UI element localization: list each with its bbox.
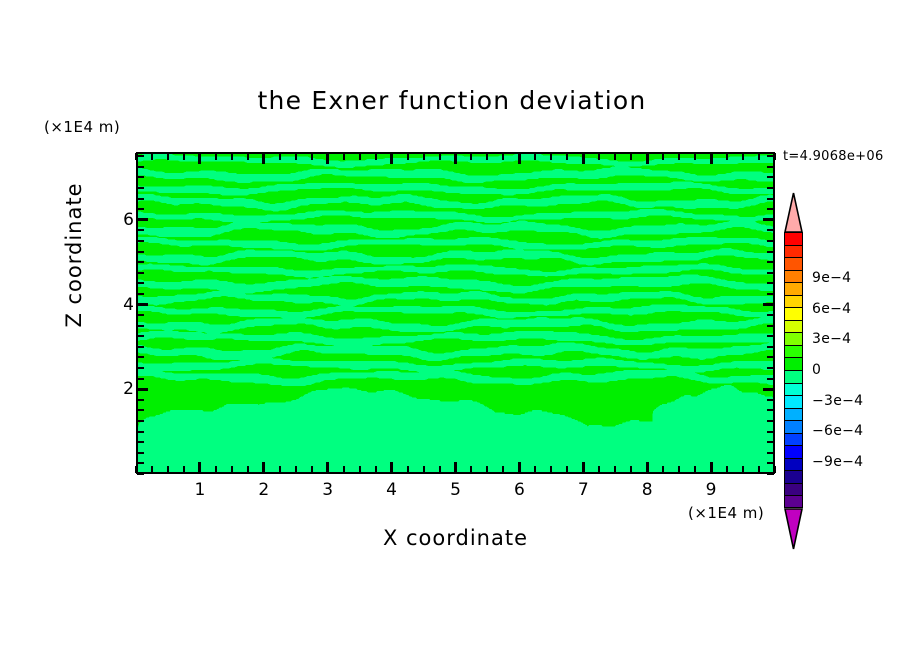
x-axis-tick	[454, 462, 457, 473]
x-axis-tick	[630, 466, 632, 473]
y-axis-tick-label: 2	[112, 379, 134, 399]
x-axis-tick	[167, 466, 169, 473]
y-axis-tick	[137, 399, 144, 401]
colorbar-tick-label: 9e−4	[812, 270, 851, 286]
x-axis-tick	[135, 466, 137, 473]
contour-field	[138, 154, 773, 472]
y-axis-tick	[137, 335, 144, 337]
x-axis-tick-top	[167, 153, 169, 160]
colorbar-band	[784, 395, 803, 408]
colorbar-band	[784, 370, 803, 383]
colorbar-tick-label: 0	[812, 362, 821, 378]
x-axis-tick	[774, 466, 776, 473]
x-axis-tick-top	[758, 153, 760, 160]
x-axis-tick-top	[566, 153, 568, 160]
y-axis-tick-right	[767, 293, 774, 295]
y-axis-tick	[137, 272, 144, 274]
y-axis-tick-right	[767, 462, 774, 464]
y-axis-tick	[137, 166, 144, 168]
x-axis-tick-top	[550, 153, 552, 160]
x-axis-tick-label: 5	[450, 480, 461, 500]
x-axis-tick	[742, 466, 744, 473]
y-axis-tick-right	[767, 240, 774, 242]
x-axis-tick-top	[343, 153, 345, 160]
x-axis-tick	[311, 466, 313, 473]
x-axis-tick	[758, 466, 760, 473]
y-axis-tick	[137, 388, 148, 391]
x-axis-tick	[231, 466, 233, 473]
x-axis-tick	[375, 466, 377, 473]
colorbar	[784, 232, 803, 508]
x-axis-unit-label: (×1E4 m)	[688, 504, 764, 522]
x-axis-tick-top	[454, 153, 457, 164]
y-axis-tick-right	[767, 272, 774, 274]
x-axis-tick-top	[326, 153, 329, 164]
x-axis-tick-top	[407, 153, 409, 160]
y-axis-tick-right	[767, 378, 774, 380]
y-axis-tick-right	[767, 155, 774, 157]
x-axis-tick	[550, 466, 552, 473]
x-axis-tick-label: 6	[514, 480, 525, 500]
x-axis-tick-top	[231, 153, 233, 160]
x-axis-tick-top	[247, 153, 249, 160]
y-axis-tick	[137, 303, 148, 306]
y-axis-tick	[137, 218, 148, 221]
x-axis-tick	[470, 466, 472, 473]
y-axis-tick-right	[767, 420, 774, 422]
y-axis-tick	[137, 240, 144, 242]
x-axis-tick-top	[646, 153, 649, 164]
y-axis-tick	[137, 261, 144, 263]
colorbar-band	[784, 295, 803, 308]
x-axis-tick	[326, 462, 329, 473]
y-axis-tick-right	[767, 452, 774, 454]
x-axis-tick	[343, 466, 345, 473]
y-axis-tick-right	[767, 229, 774, 231]
y-axis-tick-right	[767, 335, 774, 337]
colorbar-band	[784, 483, 803, 496]
colorbar-band	[784, 245, 803, 258]
y-axis-tick	[137, 367, 144, 369]
y-axis-title: Z coordinate	[62, 145, 86, 365]
x-axis-tick-top	[598, 153, 600, 160]
x-axis-title: X coordinate	[136, 526, 775, 550]
timestamp-annotation: t=4.9068e+06	[783, 149, 884, 164]
y-axis-tick-right	[767, 367, 774, 369]
y-axis-tick-label: 4	[112, 295, 134, 315]
x-axis-tick	[710, 462, 713, 473]
x-axis-tick-label: 4	[386, 480, 397, 500]
y-axis-tick-right	[767, 409, 774, 411]
y-axis-tick-right	[767, 399, 774, 401]
x-axis-tick-label: 3	[322, 480, 333, 500]
x-axis-tick-top	[198, 153, 201, 164]
x-axis-tick	[678, 466, 680, 473]
y-axis-tick	[137, 187, 144, 189]
x-axis-tick-top	[390, 153, 393, 164]
y-axis-tick	[137, 462, 144, 464]
y-axis-tick-right	[763, 388, 774, 391]
x-axis-tick-top	[262, 153, 265, 164]
colorbar-band	[784, 445, 803, 458]
x-axis-tick	[359, 466, 361, 473]
x-axis-tick	[598, 466, 600, 473]
x-axis-tick-top	[742, 153, 744, 160]
colorbar-tick-label: 6e−4	[812, 301, 851, 317]
colorbar-band	[784, 357, 803, 370]
x-axis-tick-label: 8	[642, 480, 653, 500]
y-axis-tick	[137, 198, 144, 200]
x-axis-tick	[439, 466, 441, 473]
colorbar-band	[784, 408, 803, 421]
y-axis-tick-right	[767, 208, 774, 210]
colorbar-tick-label: −6e−4	[812, 423, 863, 439]
y-axis-tick-label: 6	[112, 210, 134, 230]
y-axis-tick-right	[767, 431, 774, 433]
x-axis-tick	[247, 466, 249, 473]
y-axis-tick-right	[767, 198, 774, 200]
colorbar-band	[784, 332, 803, 345]
y-axis-tick-right	[767, 314, 774, 316]
y-axis-unit-label: (×1E4 m)	[44, 118, 120, 136]
x-axis-tick-top	[183, 153, 185, 160]
x-axis-tick-top	[710, 153, 713, 164]
x-axis-tick-top	[518, 153, 521, 164]
y-axis-tick	[137, 251, 144, 253]
y-axis-tick	[137, 452, 144, 454]
y-axis-tick-right	[767, 166, 774, 168]
x-axis-tick-top	[215, 153, 217, 160]
x-axis-tick-top	[694, 153, 696, 160]
x-axis-tick	[502, 466, 504, 473]
colorbar-band	[784, 420, 803, 433]
y-axis-tick-right	[767, 346, 774, 348]
x-axis-tick	[215, 466, 217, 473]
chart-title: the Exner function deviation	[0, 86, 904, 115]
x-axis-tick	[279, 466, 281, 473]
x-axis-tick-top	[662, 153, 664, 160]
x-axis-tick-top	[423, 153, 425, 160]
x-axis-tick	[407, 466, 409, 473]
y-axis-tick-right	[767, 251, 774, 253]
colorbar-band	[784, 270, 803, 283]
y-axis-tick	[137, 176, 144, 178]
y-axis-tick-right	[767, 441, 774, 443]
y-axis-tick	[137, 314, 144, 316]
colorbar-band	[784, 307, 803, 320]
x-axis-tick-top	[295, 153, 297, 160]
x-axis-tick	[183, 466, 185, 473]
colorbar-band	[784, 458, 803, 471]
x-axis-tick-top	[502, 153, 504, 160]
x-axis-tick-top	[614, 153, 616, 160]
x-axis-tick-top	[470, 153, 472, 160]
colorbar-tick-label: −3e−4	[812, 393, 863, 409]
x-axis-tick	[726, 466, 728, 473]
x-axis-tick	[198, 462, 201, 473]
x-axis-tick	[423, 466, 425, 473]
colorbar-tick-label: −9e−4	[812, 454, 863, 470]
y-axis-tick-right	[767, 176, 774, 178]
y-axis-tick	[137, 420, 144, 422]
x-axis-tick	[582, 462, 585, 473]
x-axis-tick	[566, 466, 568, 473]
y-axis-tick	[137, 378, 144, 380]
x-axis-tick-label: 2	[258, 480, 269, 500]
x-axis-tick-top	[678, 153, 680, 160]
colorbar-band	[784, 383, 803, 396]
x-axis-tick	[662, 466, 664, 473]
y-axis-tick	[137, 229, 144, 231]
x-axis-tick-label: 1	[194, 480, 205, 500]
x-axis-tick	[534, 466, 536, 473]
colorbar-band	[784, 257, 803, 270]
x-axis-tick-top	[311, 153, 313, 160]
x-axis-tick	[694, 466, 696, 473]
x-axis-tick	[151, 466, 153, 473]
colorbar-band	[784, 433, 803, 446]
y-axis-tick	[137, 473, 144, 475]
y-axis-tick-right	[767, 325, 774, 327]
x-axis-tick	[486, 466, 488, 473]
y-axis-tick	[137, 431, 144, 433]
y-axis-tick	[137, 441, 144, 443]
y-axis-tick-right	[767, 187, 774, 189]
colorbar-band	[784, 232, 803, 245]
figure-canvas: the Exner function deviation (×1E4 m) (×…	[0, 0, 904, 654]
x-axis-tick-top	[774, 153, 776, 160]
y-axis-tick-right	[763, 303, 774, 306]
y-axis-tick	[137, 325, 144, 327]
x-axis-tick-top	[486, 153, 488, 160]
y-axis-tick-right	[767, 356, 774, 358]
y-axis-tick	[137, 293, 144, 295]
x-axis-tick-top	[375, 153, 377, 160]
y-axis-tick	[137, 282, 144, 284]
y-axis-tick-right	[767, 473, 774, 475]
colorbar-band	[784, 470, 803, 483]
y-axis-tick-right	[767, 282, 774, 284]
colorbar-band	[784, 495, 803, 508]
x-axis-tick-top	[726, 153, 728, 160]
colorbar-band	[784, 320, 803, 333]
colorbar-band	[784, 282, 803, 295]
x-axis-tick-top	[439, 153, 441, 160]
colorbar-tick-label: 3e−4	[812, 331, 851, 347]
x-axis-tick-top	[630, 153, 632, 160]
y-axis-tick	[137, 356, 144, 358]
x-axis-tick-label: 7	[578, 480, 589, 500]
x-axis-tick-top	[359, 153, 361, 160]
y-axis-tick	[137, 208, 144, 210]
x-axis-tick-top	[279, 153, 281, 160]
x-axis-tick	[262, 462, 265, 473]
x-axis-tick-label: 9	[706, 480, 717, 500]
y-axis-tick	[137, 155, 144, 157]
y-axis-tick-right	[763, 218, 774, 221]
y-axis-tick	[137, 346, 144, 348]
x-axis-tick-top	[534, 153, 536, 160]
x-axis-tick	[295, 466, 297, 473]
x-axis-tick	[646, 462, 649, 473]
x-axis-tick	[390, 462, 393, 473]
colorbar-band	[784, 345, 803, 358]
x-axis-tick	[518, 462, 521, 473]
y-axis-tick-right	[767, 261, 774, 263]
x-axis-tick-top	[582, 153, 585, 164]
contour-plot-area	[136, 152, 775, 474]
x-axis-tick	[614, 466, 616, 473]
x-axis-tick-top	[151, 153, 153, 160]
y-axis-tick	[137, 409, 144, 411]
